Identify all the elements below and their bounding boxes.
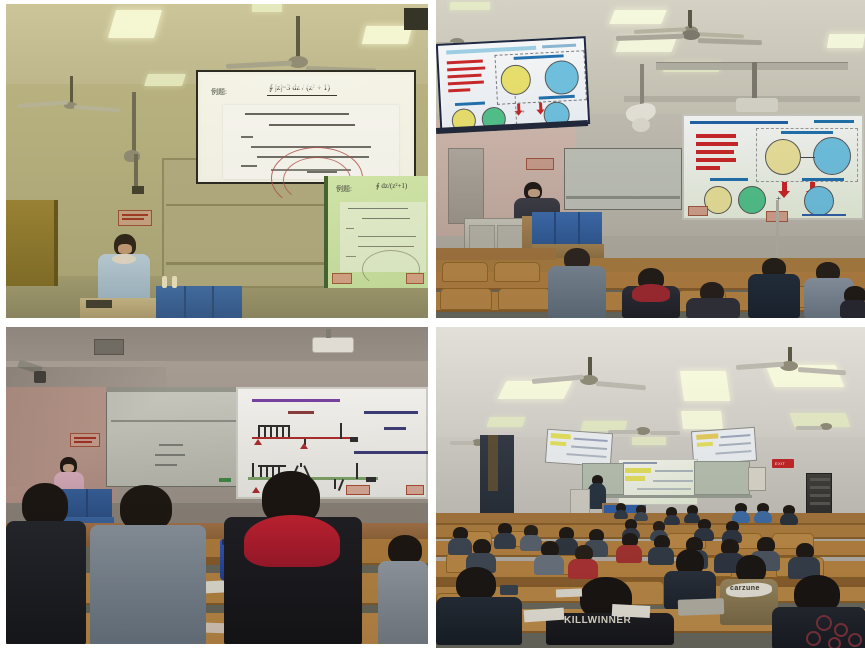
panel-bottom-left[interactable]	[6, 327, 428, 644]
projector	[312, 337, 354, 353]
ceiling-light	[144, 74, 186, 86]
panel-bottom-right[interactable]: EXIT	[436, 327, 865, 648]
projection-formula: ∮ dz/(z²+1)	[376, 182, 407, 190]
red-hood	[244, 515, 340, 567]
student	[224, 471, 362, 644]
ceiling-light	[632, 437, 666, 445]
laptop	[86, 300, 112, 308]
student	[378, 535, 428, 644]
ceiling-light	[680, 371, 730, 401]
screen-glare	[206, 76, 402, 88]
phasor-circle	[500, 64, 532, 96]
paper	[612, 604, 651, 618]
ceiling-light	[108, 10, 162, 38]
camera-body	[632, 118, 650, 132]
door-frame	[488, 435, 498, 491]
left-screen[interactable]	[545, 429, 613, 468]
projector-mount	[752, 62, 757, 100]
wall-notice-frame	[748, 467, 766, 491]
exit-sign: EXIT	[772, 459, 794, 468]
ceiling-light	[486, 417, 525, 427]
bottle	[172, 276, 177, 288]
student	[754, 503, 772, 523]
student	[616, 533, 642, 563]
ceiling-light	[681, 411, 723, 429]
wall-notice	[526, 158, 554, 170]
student	[568, 545, 598, 579]
instructor-face	[118, 244, 132, 254]
ceiling-light	[827, 34, 865, 48]
phasor-circle	[704, 186, 732, 214]
phasor-circle	[738, 186, 766, 214]
pencil-case	[678, 598, 725, 616]
projection-heading: 例题:	[336, 184, 352, 194]
wall-sign	[332, 273, 352, 284]
student	[548, 248, 606, 318]
right-screen[interactable]	[691, 427, 757, 465]
student	[90, 485, 206, 644]
student	[686, 282, 740, 318]
projection-screen[interactable]: +	[682, 114, 864, 220]
chalkboard-rail	[166, 262, 334, 265]
student	[494, 523, 516, 549]
camera-body	[132, 186, 144, 194]
collar	[112, 254, 136, 264]
projector-mount	[326, 329, 331, 338]
student	[622, 268, 680, 318]
ceiling-light	[609, 10, 667, 24]
wall-sign	[406, 485, 424, 495]
camera-mount	[132, 92, 136, 152]
fan-hub	[636, 427, 650, 435]
door[interactable]	[448, 148, 484, 224]
student-killwinner	[546, 577, 674, 645]
phasor-circle	[765, 139, 801, 175]
fan-rod	[296, 16, 300, 58]
projection-screen[interactable]: 例题: ∮ dz/(z²+1)	[324, 176, 428, 288]
student	[534, 541, 564, 575]
photo-collage: 例题: ∮ |z|=3 dz / (z² + 1)	[0, 0, 865, 648]
jacket-text-killwinner: KILLWINNER	[564, 615, 631, 626]
center-projection-screen[interactable]	[618, 459, 698, 505]
wall-shadow	[6, 367, 166, 487]
wall-sign	[406, 273, 424, 284]
fan-rod	[70, 76, 73, 104]
fan-rod	[588, 357, 592, 377]
student	[748, 258, 800, 318]
chalkboard	[694, 461, 750, 495]
seat	[440, 288, 492, 310]
student	[732, 503, 750, 523]
seat	[442, 262, 488, 282]
student-carzune: carzune	[720, 555, 778, 625]
door-frame	[54, 200, 58, 286]
red-hood	[632, 284, 670, 302]
student	[6, 483, 86, 644]
stage-panel	[532, 212, 602, 246]
ceiling-light	[252, 4, 282, 12]
paper	[556, 589, 582, 598]
panel-top-right[interactable]: +	[436, 0, 865, 318]
bottle	[162, 276, 167, 288]
whiteboard	[564, 148, 682, 210]
camera-mount	[640, 64, 644, 106]
student	[840, 286, 865, 318]
phone	[500, 585, 518, 595]
student	[614, 503, 628, 519]
student	[780, 505, 798, 525]
phasor-circle	[813, 137, 851, 175]
seat	[494, 262, 540, 282]
projector	[736, 98, 778, 112]
phasor-circle	[804, 186, 834, 216]
overhead-screen[interactable]: +	[436, 36, 590, 132]
student	[436, 567, 522, 645]
ceiling-vent	[94, 339, 124, 355]
stage-panel	[156, 286, 242, 318]
ceiling-speaker	[404, 8, 428, 30]
desk-row	[436, 248, 556, 260]
door[interactable]	[6, 200, 58, 286]
wall-sign	[688, 206, 708, 216]
jacket-text-carzune: carzune	[730, 585, 760, 592]
phasor-circle	[544, 60, 580, 96]
slide-heading: 例题:	[211, 87, 227, 97]
seat	[498, 288, 550, 310]
wall-notice	[70, 433, 100, 447]
student	[772, 575, 865, 648]
panel-top-left[interactable]: 例题: ∮ |z|=3 dz / (z² + 1)	[6, 4, 428, 318]
student	[788, 543, 820, 579]
wall-notice	[118, 210, 152, 226]
support-pole	[776, 200, 779, 264]
camera-mount	[134, 154, 138, 188]
